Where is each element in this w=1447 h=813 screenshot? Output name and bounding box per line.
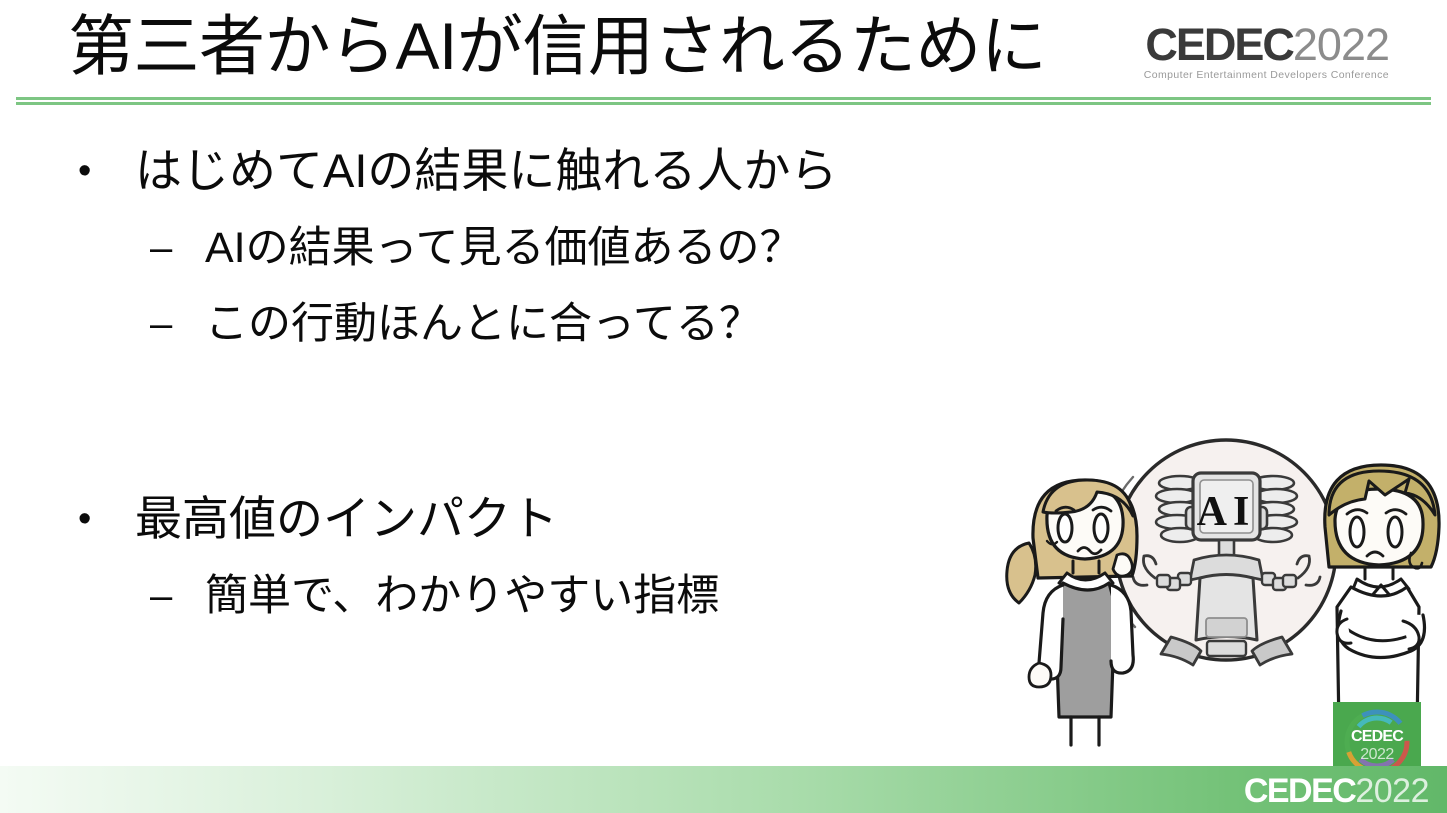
dash-marker-icon: – (150, 558, 172, 634)
bullet-level1-text: はじめてAIの結果に触れる人から (135, 144, 837, 197)
slide-header: 第三者からAIが信用されるために CEDEC2022 Computer Ente… (0, 0, 1447, 100)
title-divider (16, 97, 1431, 105)
page-title: 第三者からAIが信用されるために (68, 4, 1046, 88)
footer-logo-year: 2022 (1355, 772, 1429, 810)
block-spacer (0, 362, 1050, 480)
cedec-logo-footer: CEDEC2022 (1244, 774, 1429, 808)
cedec-logo-main: CEDEC (1145, 19, 1293, 70)
bullet-level2: –AIの結果って見る価値あるの？ (0, 210, 1050, 286)
bullet-block-1: •はじめてAIの結果に触れる人から –AIの結果って見る価値あるの？ –この行動… (0, 132, 1050, 362)
cedec-logo-wordmark: CEDEC2022 (1141, 22, 1389, 67)
bullet-level2: –この行動ほんとに合ってる？ (0, 286, 1050, 362)
bullet-level1: •最高値のインパクト (0, 480, 1050, 558)
footer-logo-main: CEDEC (1244, 772, 1356, 810)
slide-footer-bar: CEDEC2022 (0, 766, 1447, 813)
bullet-block-2: •最高値のインパクト –簡単で、わかりやすい指標 (0, 480, 1050, 634)
slide-body: •はじめてAIの結果に触れる人から –AIの結果って見る価値あるの？ –この行動… (0, 132, 1050, 634)
divider-line-top (16, 97, 1431, 100)
bullet-marker-icon: • (78, 480, 91, 558)
presentation-slide: 第三者からAIが信用されるために CEDEC2022 Computer Ente… (0, 0, 1447, 813)
bullet-level2: –簡単で、わかりやすい指標 (0, 558, 1050, 634)
robot-ai-label: AI (1197, 489, 1256, 535)
bullet-level2-text: 簡単で、わかりやすい指標 (205, 572, 719, 620)
bullet-level1-text: 最高値のインパクト (135, 492, 558, 545)
bullet-level2-text: この行動ほんとに合ってる？ (205, 300, 762, 348)
cedec-logo-year: 2022 (1293, 19, 1389, 70)
dash-marker-icon: – (150, 210, 172, 286)
bullet-marker-icon: • (78, 132, 91, 210)
cedec-logo-tagline: Computer Entertainment Developers Confer… (1141, 69, 1389, 81)
dash-marker-icon: – (150, 286, 172, 362)
badge-year: 2022 (1333, 746, 1421, 764)
bullet-level1: •はじめてAIの結果に触れる人から (0, 132, 1050, 210)
badge-label: CEDEC (1333, 728, 1421, 746)
cedec-logo-header: CEDEC2022 Computer Entertainment Develop… (1141, 22, 1389, 84)
divider-line-bottom (16, 102, 1431, 105)
bullet-level2-text: AIの結果って見る価値あるの？ (205, 224, 802, 272)
